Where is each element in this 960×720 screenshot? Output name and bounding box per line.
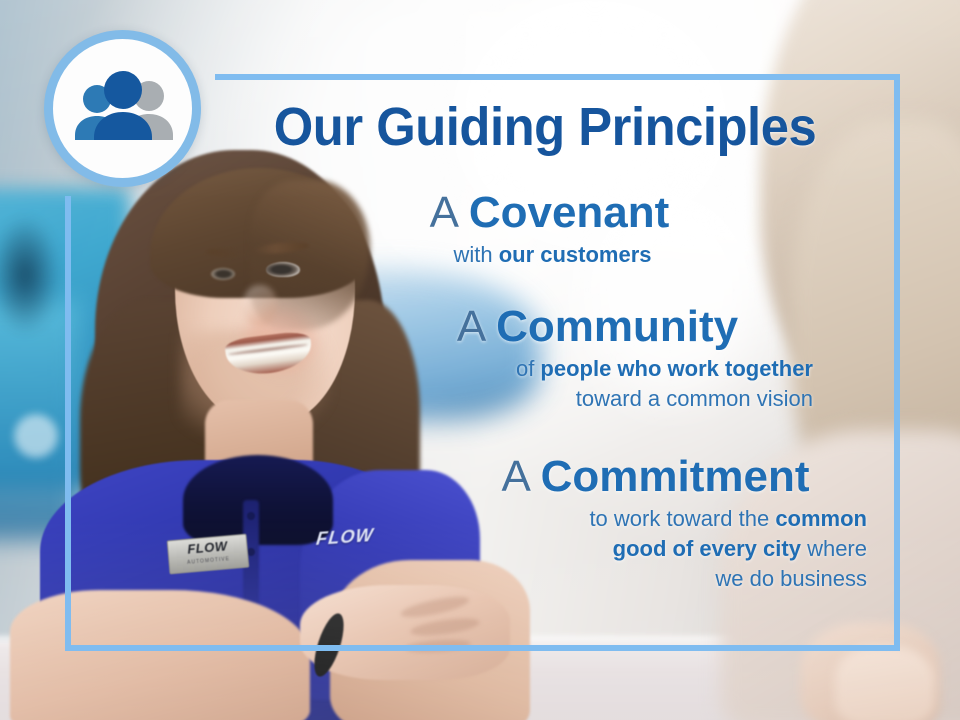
principle-community: A Community of people who work together … — [260, 300, 875, 414]
banner-title: Our Guiding Principles — [235, 96, 855, 158]
banner-canvas: FLOW FLOW AUTOMOTIVE — [0, 0, 960, 720]
frame-border-right — [894, 74, 900, 651]
subtext-plain: to work toward the — [589, 506, 775, 531]
principle-subtext-line: toward a common vision — [260, 384, 813, 414]
principle-subtext: with our customers — [245, 240, 860, 270]
frame-border-top — [215, 74, 900, 80]
subtext-plain: with — [453, 242, 498, 267]
principle-subtext: of people who work together toward a com… — [260, 354, 875, 414]
principles-list: A Covenant with our customers A Communit… — [260, 186, 875, 600]
principle-subtext-line: of people who work together — [260, 354, 813, 384]
principle-heading: A Commitment — [348, 450, 960, 504]
principle-heading: A Community — [290, 300, 905, 354]
subtext-emphasis: people who work together — [540, 356, 813, 381]
principle-subtext-line: to work toward the common — [260, 504, 867, 534]
principle-word: Covenant — [469, 188, 669, 237]
subtext-plain: of — [516, 356, 540, 381]
guiding-principles-badge — [44, 30, 201, 187]
people-group-icon — [53, 39, 192, 178]
subtext-plain: where — [801, 536, 867, 561]
principle-subtext-line: we do business — [260, 564, 867, 594]
subtext-plain: we do business — [715, 566, 867, 591]
principle-subtext: to work toward the common good of every … — [260, 504, 875, 594]
principle-article: A — [457, 302, 484, 351]
subtext-emphasis: common — [775, 506, 867, 531]
frame-border-bottom — [65, 645, 900, 651]
principle-word: Commitment — [541, 452, 810, 501]
principle-subtext-line: good of every city where — [260, 534, 867, 564]
principle-subtext-line: with our customers — [245, 240, 860, 270]
subtext-emphasis: good of every city — [613, 536, 801, 561]
principle-heading: A Covenant — [242, 186, 857, 240]
principle-article: A — [501, 452, 528, 501]
subtext-emphasis: our customers — [499, 242, 652, 267]
subtext-plain: toward a common vision — [576, 386, 813, 411]
principle-commitment: A Commitment to work toward the common g… — [260, 450, 875, 594]
principle-word: Community — [496, 302, 738, 351]
principle-covenant: A Covenant with our customers — [260, 186, 875, 270]
frame-border-left — [65, 196, 71, 651]
principle-article: A — [430, 188, 457, 237]
